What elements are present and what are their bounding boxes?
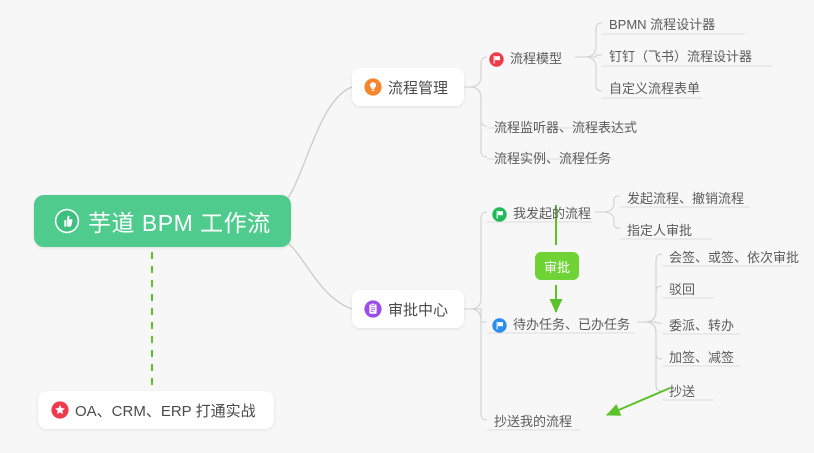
wire-todo-to-addsign [637,322,662,359]
lightbulb-icon [364,78,382,96]
node-listener-expression[interactable]: 流程监听器、流程表达式 [490,112,644,139]
flag-green-icon [492,207,507,222]
wire-ac-to-cc-to-me [462,309,487,420]
wire-root-to-process-management [281,87,352,203]
wire-ac-to-todo [462,309,487,322]
node-add-remove-sign-label: 加签、减签 [669,347,734,366]
node-assignee-approve-label: 指定人审批 [627,220,692,239]
flag-red-icon [489,52,504,67]
node-cc[interactable]: 抄送 [665,376,702,403]
node-process-model-label: 流程模型 [510,48,562,67]
node-instance-task[interactable]: 流程实例、流程任务 [490,143,618,170]
node-process-model[interactable]: 流程模型 [487,43,569,70]
node-reject[interactable]: 驳回 [665,274,702,301]
node-delegate-transfer-label: 委派、转办 [669,315,734,334]
wire-model-to-bpmn [575,23,602,57]
node-todo-done-tasks-label: 待办任务、已办任务 [513,314,630,333]
root-label: 芋道 BPM 工作流 [88,204,271,238]
wire-todo-to-sign [637,254,662,322]
wire-initiated-to-start [595,196,620,212]
annotation-approval-badge: 审批 [535,252,579,280]
node-listener-expression-label: 流程监听器、流程表达式 [494,117,637,136]
clipboard-icon [364,300,382,318]
wire-root-to-approval-center [281,240,352,309]
root-node[interactable]: 芋道 BPM 工作流 [34,195,291,247]
node-dingtalk-designer[interactable]: 钉钉（飞书）流程设计器 [605,41,759,68]
node-cc-to-me[interactable]: 抄送我的流程 [490,406,579,433]
node-bpmn-designer-label: BPMN 流程设计器 [609,14,715,33]
flag-blue-icon [492,318,507,333]
thumbs-up-icon [54,208,80,234]
node-bpmn-designer[interactable]: BPMN 流程设计器 [605,9,722,36]
node-instance-task-label: 流程实例、流程任务 [494,148,611,167]
star-icon [51,401,69,419]
branch-process-management[interactable]: 流程管理 [352,68,464,106]
wire-model-to-custom-form [575,57,602,91]
node-sign-modes-label: 会签、或签、依次审批 [669,247,799,266]
footnote-node[interactable]: OA、CRM、ERP 打通实战 [38,391,274,429]
arrow-cc-to-cc-to-me [607,388,670,415]
wire-todo-to-cc [637,322,662,391]
wire-ac-to-my-initiated [462,212,487,309]
node-start-cancel-label: 发起流程、撤销流程 [627,188,744,207]
wire-initiated-to-assignee [595,212,620,228]
branch-approval-center-label: 审批中心 [388,299,448,320]
node-cc-to-me-label: 抄送我的流程 [494,411,572,430]
wire-pm-to-listener [462,87,487,126]
node-reject-label: 驳回 [669,279,695,298]
mindmap-canvas: 芋道 BPM 工作流 流程管理 流程模型 流程监听器、流程表达式 流程实例、流程… [0,0,814,453]
wire-pm-to-instance [462,87,487,157]
node-sign-modes[interactable]: 会签、或签、依次审批 [665,242,806,269]
node-my-initiated-label: 我发起的流程 [513,203,591,222]
node-my-initiated[interactable]: 我发起的流程 [490,198,598,225]
wire-todo-to-reject [637,286,662,322]
node-dingtalk-designer-label: 钉钉（飞书）流程设计器 [609,46,752,65]
node-assignee-approve[interactable]: 指定人审批 [623,215,699,242]
wire-pm-to-process-model [462,57,487,87]
wire-todo-to-delegate [637,322,662,323]
footnote-label: OA、CRM、ERP 打通实战 [75,400,256,421]
node-cc-label: 抄送 [669,381,695,400]
branch-approval-center[interactable]: 审批中心 [352,290,464,328]
wire-model-to-dingtalk [575,55,602,57]
node-custom-process-form-label: 自定义流程表单 [609,78,700,97]
node-todo-done-tasks[interactable]: 待办任务、已办任务 [490,309,637,336]
node-delegate-transfer[interactable]: 委派、转办 [665,310,741,337]
node-custom-process-form[interactable]: 自定义流程表单 [605,73,707,100]
branch-process-management-label: 流程管理 [388,77,448,98]
node-start-cancel[interactable]: 发起流程、撤销流程 [623,183,751,210]
annotation-approval-badge-label: 审批 [544,257,570,276]
node-add-remove-sign[interactable]: 加签、减签 [665,342,741,369]
